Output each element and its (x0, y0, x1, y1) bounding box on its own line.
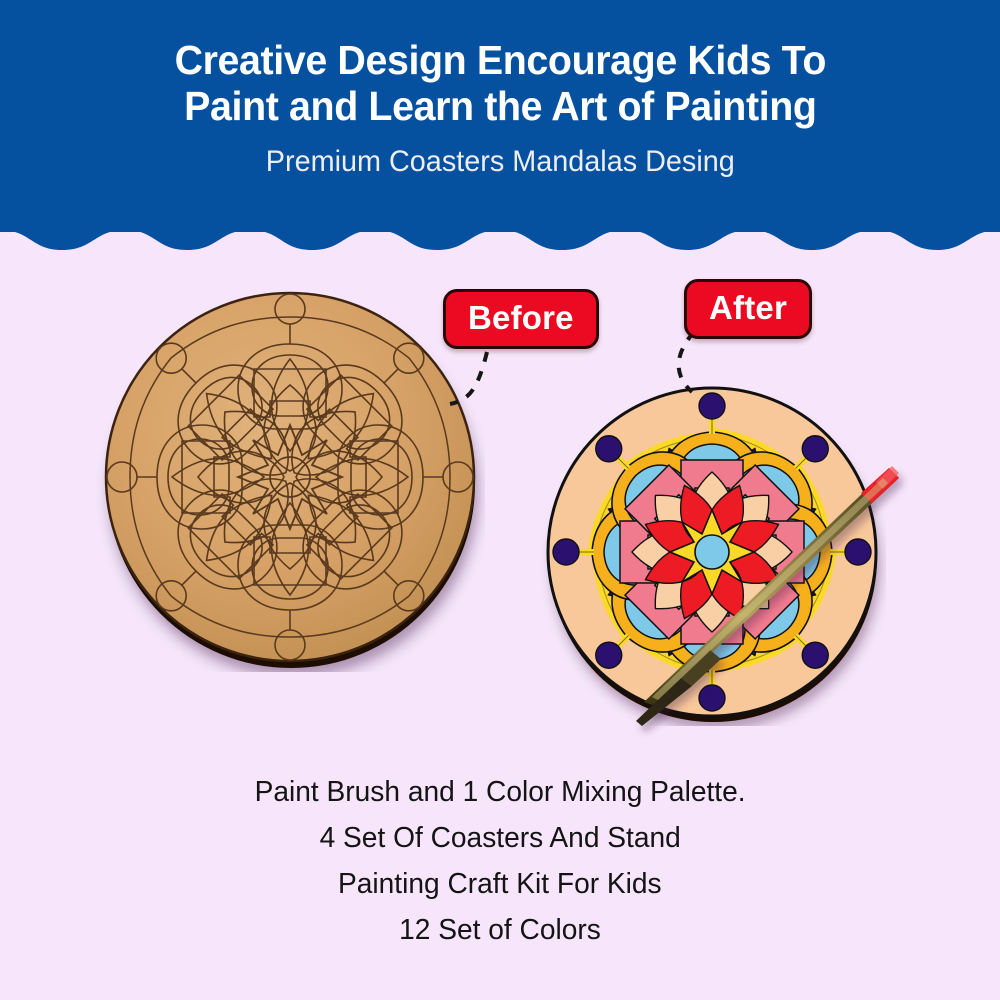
header-banner: Creative Design Encourage Kids To Paint … (0, 0, 1000, 252)
after-badge[interactable]: After (684, 279, 812, 339)
feature-item-2: 4 Set Of Coasters And Stand (319, 824, 680, 853)
coaster-surface-blank (106, 293, 474, 661)
brush-body (636, 466, 899, 726)
feature-item-4: 12 Set of Colors (399, 916, 601, 945)
coaster-blank-image (95, 282, 485, 672)
paint-brush-image (600, 440, 920, 740)
headline-line-2: Paint and Learn the Art of Painting (184, 84, 816, 130)
product-infographic: Creative Design Encourage Kids To Paint … (0, 0, 1000, 1000)
sub-headline: Premium Coasters Mandalas Desing (266, 144, 735, 180)
feature-list: Paint Brush and 1 Color Mixing Palette. … (0, 778, 1000, 962)
feature-item-3: Painting Craft Kit For Kids (338, 870, 662, 899)
before-badge[interactable]: Before (443, 289, 599, 349)
banner-text-block: Creative Design Encourage Kids To Paint … (0, 0, 1000, 232)
brush-highlight (652, 478, 888, 700)
feature-item-1: Paint Brush and 1 Color Mixing Palette. (255, 778, 746, 807)
headline-line-1: Creative Design Encourage Kids To (174, 38, 826, 84)
